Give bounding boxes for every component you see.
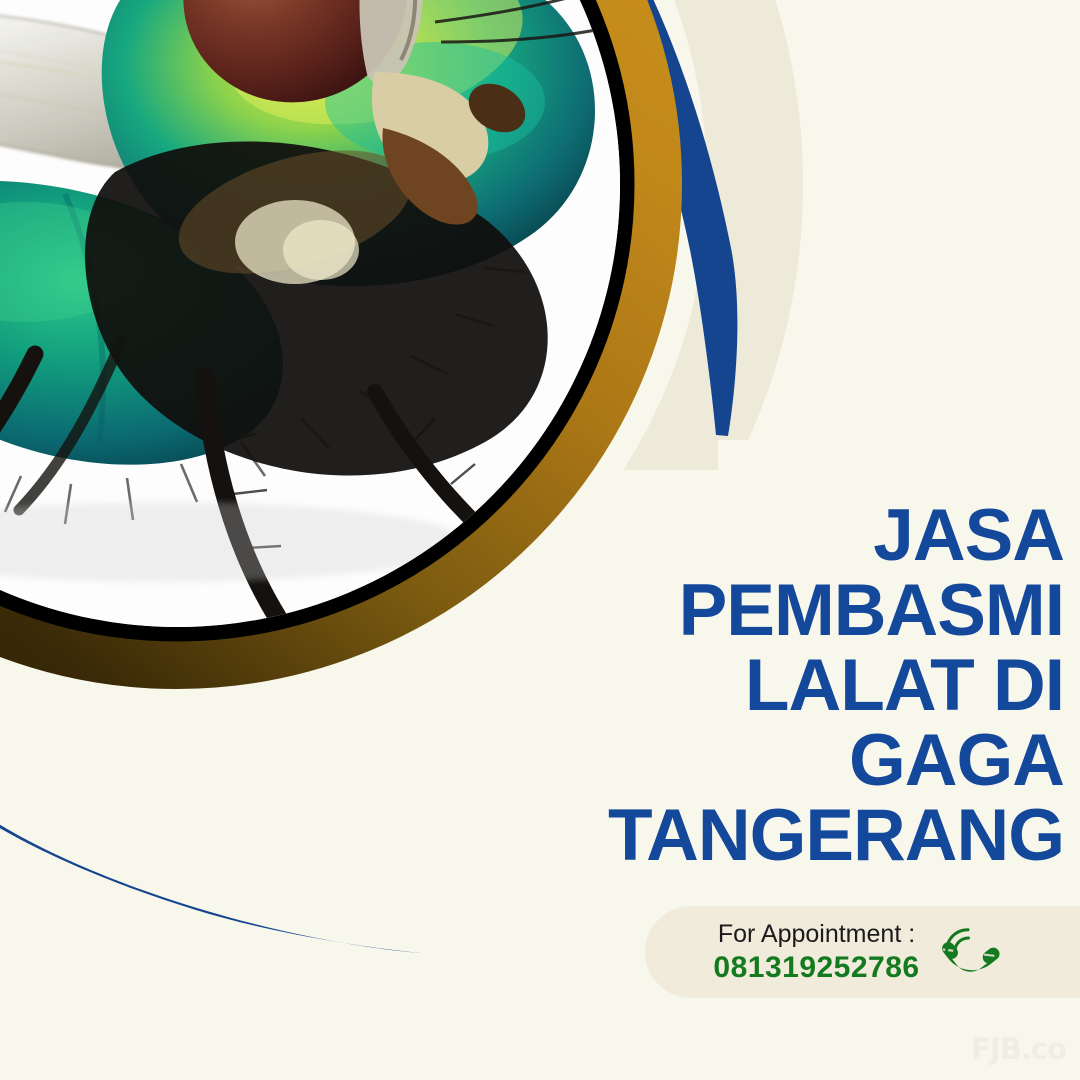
headline-line-5: TANGERANG (594, 798, 1064, 873)
headline-line-4: GAGA (594, 723, 1064, 798)
appointment-content: For Appointment : 081319252786 (713, 921, 999, 983)
appointment-text: For Appointment : 081319252786 (713, 922, 919, 983)
arc-blue-lower (0, 800, 420, 953)
headline-line-2: PEMBASMI (594, 573, 1064, 648)
appointment-phone-number[interactable]: 081319252786 (713, 953, 919, 983)
appointment-label: For Appointment : (718, 922, 915, 947)
headline-line-1: JASA (594, 498, 1064, 573)
watermark-logo: FJB.co (971, 1032, 1066, 1066)
appointment-banner[interactable]: For Appointment : 081319252786 (645, 906, 1080, 998)
poster-canvas: JASA PEMBASMI LALAT DI GAGA TANGERANG Fo… (0, 0, 1080, 1080)
headline-block: JASA PEMBASMI LALAT DI GAGA TANGERANG (594, 498, 1064, 873)
phone-ringing-icon[interactable] (938, 921, 1000, 983)
headline-line-3: LALAT DI (594, 648, 1064, 723)
